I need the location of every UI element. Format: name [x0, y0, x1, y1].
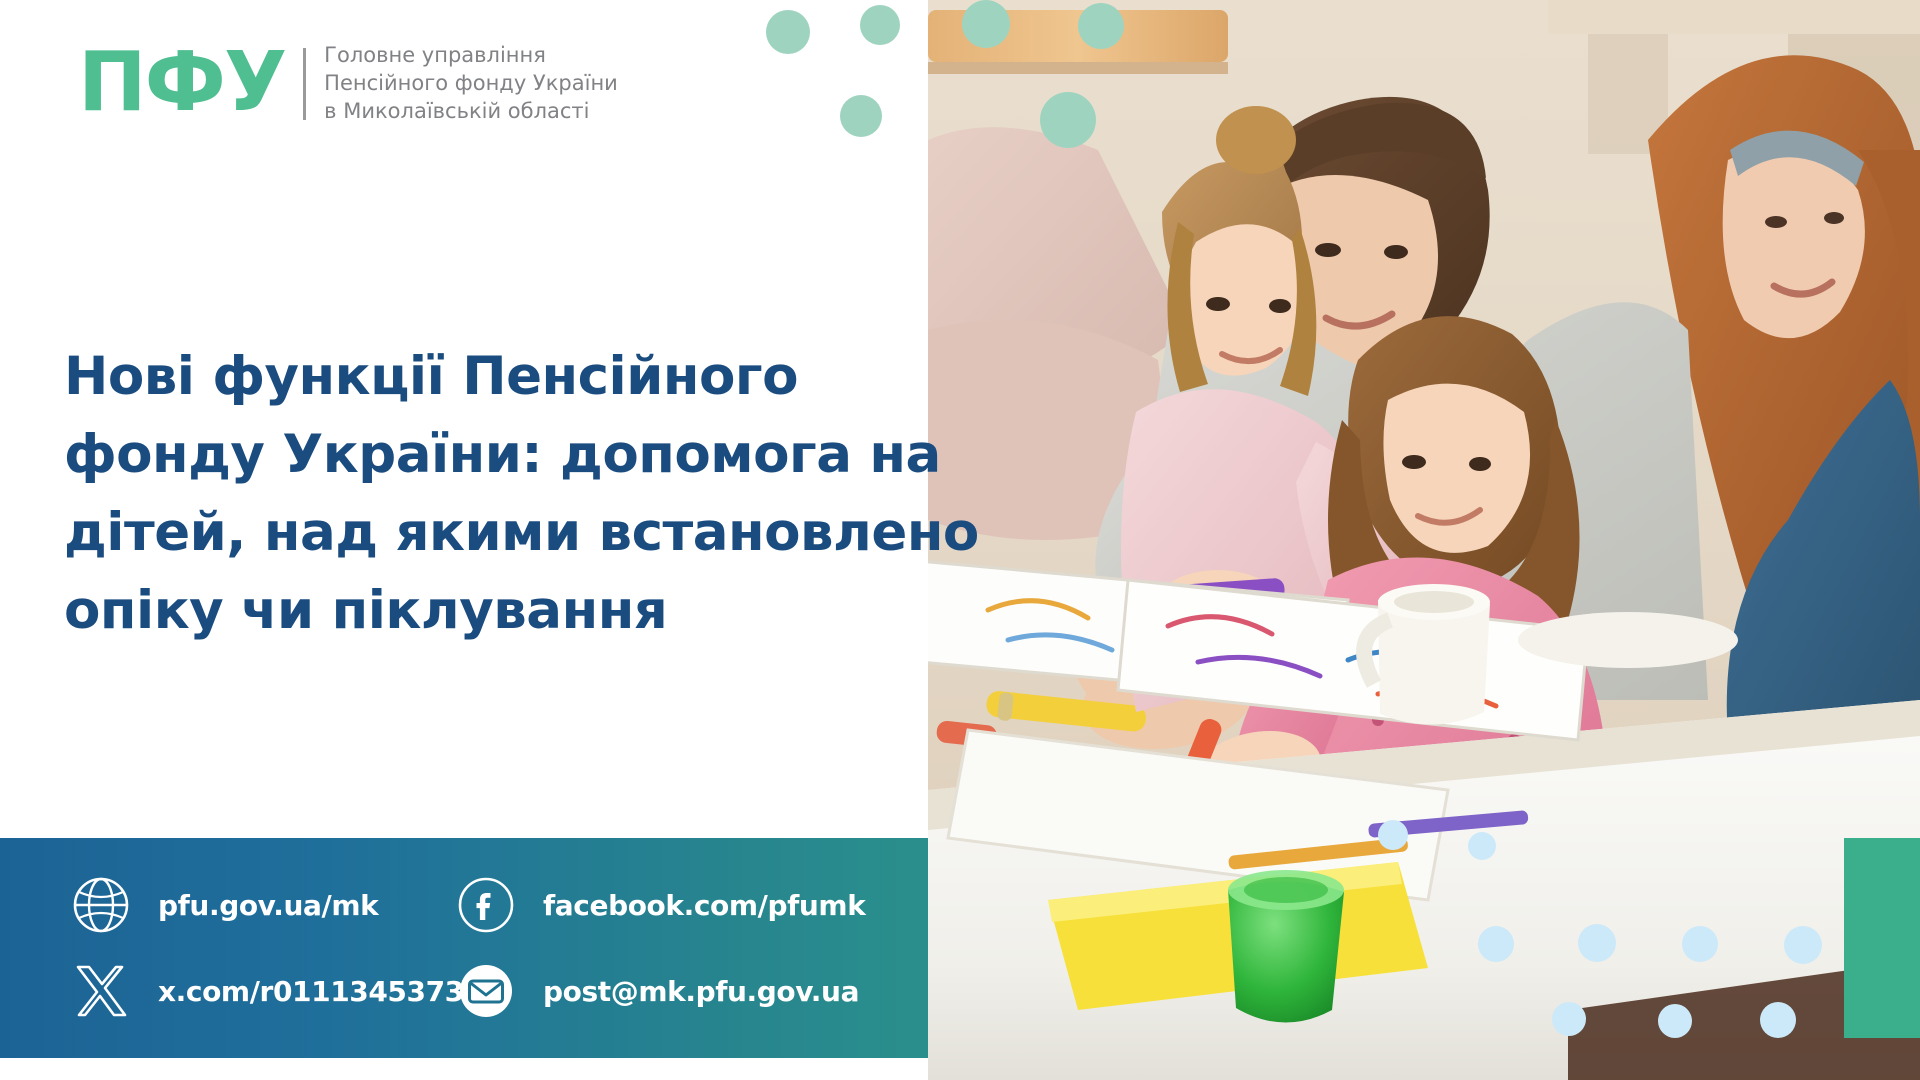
- logo-subtitle-line-2: Пенсійного фонду України: [324, 69, 618, 97]
- page-title: Нові функції Пенсійного фонду України: д…: [64, 338, 894, 650]
- contact-column-left: pfu.gov.ua/mk x.com/r0111345373: [0, 862, 430, 1034]
- headline-line-3: дітей, над якими встановлено: [64, 494, 894, 572]
- decor-dot-green-2: [860, 5, 900, 45]
- contact-row-website[interactable]: pfu.gov.ua/mk: [70, 862, 430, 948]
- headline-line-4: опіку чи піклування: [64, 572, 894, 650]
- logo-subtitle-line-1: Головне управління: [324, 41, 618, 69]
- globe-icon: [70, 874, 132, 936]
- headline-line-1: Нові функції Пенсійного: [64, 338, 894, 416]
- decor-dot-blue-5: [1552, 1002, 1586, 1036]
- pfu-logo: ПФУ Головне управління Пенсійного фонду …: [78, 40, 618, 126]
- contact-column-right: facebook.com/pfumk post@mk.pfu.gov.ua: [430, 862, 928, 1034]
- decor-dot-blue-6: [1658, 1004, 1692, 1038]
- facebook-label: facebook.com/pfumk: [543, 889, 865, 922]
- headline-line-2: фонду України: допомога на: [64, 416, 894, 494]
- logo-subtitle-line-3: в Миколаївській області: [324, 97, 618, 125]
- contact-row-facebook[interactable]: facebook.com/pfumk: [455, 862, 928, 948]
- contact-row-email[interactable]: post@mk.pfu.gov.ua: [455, 948, 928, 1034]
- decor-dot-blue-3: [1682, 926, 1718, 962]
- website-label: pfu.gov.ua/mk: [158, 889, 378, 922]
- logo-subtitle: Головне управління Пенсійного фонду Укра…: [306, 40, 618, 126]
- decor-dot-green-4: [962, 0, 1010, 48]
- green-accent-block: [1844, 838, 1920, 1038]
- contact-row-x[interactable]: x.com/r0111345373: [70, 948, 430, 1034]
- decor-dot-green-1: [766, 10, 810, 54]
- pfu-logo-mark: ПФУ: [78, 40, 303, 126]
- facebook-icon: [455, 874, 517, 936]
- decor-dot-green-6: [1040, 92, 1096, 148]
- decor-dot-blue-1: [1478, 926, 1514, 962]
- x-label: x.com/r0111345373: [158, 975, 464, 1008]
- decor-dot-blue-7: [1760, 1002, 1796, 1038]
- email-label: post@mk.pfu.gov.ua: [543, 975, 859, 1008]
- decor-dot-blue-2: [1578, 924, 1616, 962]
- family-photo: [928, 0, 1920, 1080]
- decor-dot-green-5: [1078, 3, 1124, 49]
- decor-dot-blue-4: [1784, 926, 1822, 964]
- poster-canvas: ПФУ Головне управління Пенсійного фонду …: [0, 0, 1920, 1080]
- decor-dot-green-3: [840, 95, 882, 137]
- decor-dot-blue-10: [1468, 832, 1496, 860]
- envelope-icon: [455, 960, 517, 1022]
- x-twitter-icon: [70, 960, 132, 1022]
- contact-footer: pfu.gov.ua/mk x.com/r0111345373: [0, 838, 928, 1058]
- decor-dot-blue-9: [1378, 820, 1408, 850]
